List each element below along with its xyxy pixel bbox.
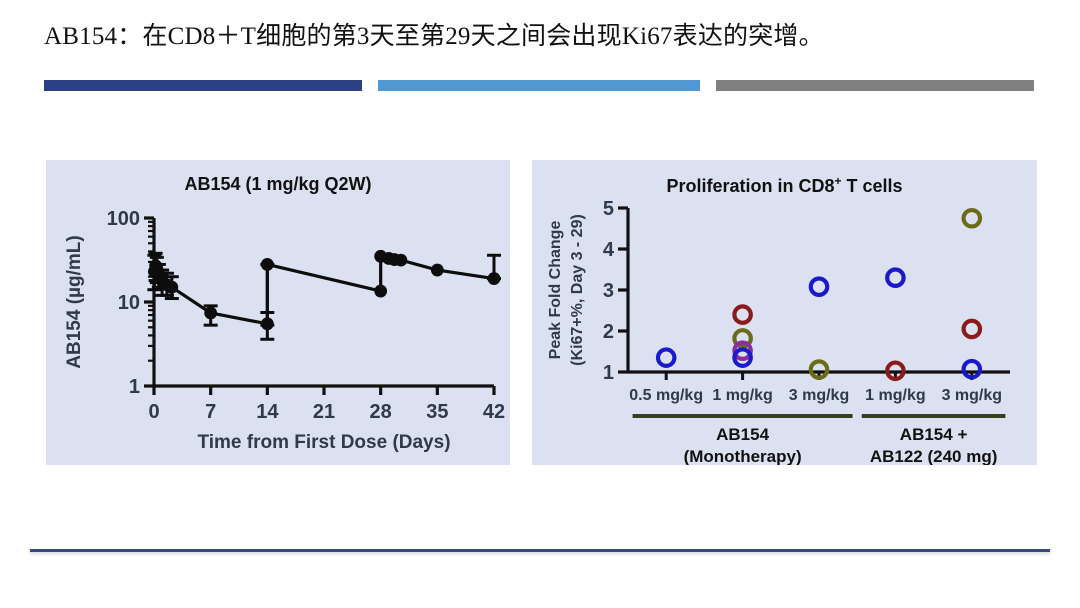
prolif-y-tick-label: 2 <box>603 321 614 343</box>
slide-root: AB154：在CD8＋T细胞的第3天至第29天之间会出现Ki67表达的突增。 A… <box>0 0 1080 608</box>
pk-x-tick-label: 7 <box>205 401 216 423</box>
pk-data-point <box>488 272 501 285</box>
prolif-data-point <box>887 270 903 286</box>
pk-y-axis-label: AB154 (µg/mL) <box>64 235 85 368</box>
pk-y-tick-label: 100 <box>107 208 140 230</box>
prolif-category-label: 1 mg/kg <box>712 387 772 404</box>
chart-panel-proliferation: Proliferation in CD8+ T cells 12345Peak … <box>532 160 1037 465</box>
pk-x-tick-label: 0 <box>148 401 159 423</box>
prolif-data-point <box>658 349 674 365</box>
prolif-category-label: 3 mg/kg <box>942 387 1002 404</box>
pk-data-point <box>374 285 387 298</box>
pk-data-point <box>261 317 274 330</box>
prolif-group-label-line1: AB154 <box>716 425 769 444</box>
prolif-group-label-line2: AB122 (240 mg) <box>870 447 998 465</box>
prolif-y-tick-label: 1 <box>603 362 614 384</box>
prolif-data-point <box>734 306 750 322</box>
pk-y-tick-label: 1 <box>129 376 140 398</box>
pk-plot-svg: 110100071421283542Time from First Dose (… <box>46 160 510 465</box>
pk-data-point <box>204 307 217 320</box>
prolif-data-point <box>964 321 980 337</box>
chart-panel-pk: AB154 (1 mg/kg Q2W) 110100071421283542Ti… <box>46 160 510 465</box>
pk-x-axis-label: Time from First Dose (Days) <box>197 432 450 453</box>
prolif-category-label: 0.5 mg/kg <box>629 387 703 404</box>
chart-title-superscript: + <box>834 174 841 188</box>
pk-data-point <box>165 281 178 294</box>
prolif-data-point <box>964 210 980 226</box>
accent-bar-light-blue <box>378 80 700 91</box>
prolif-y-axis-label-line1: Peak Fold Change <box>547 221 564 360</box>
pk-x-tick-label: 42 <box>483 401 505 423</box>
pk-data-point <box>261 258 274 271</box>
accent-bar-group <box>44 80 1034 91</box>
accent-bar-dark-blue <box>44 80 362 91</box>
prolif-group-label-line1: AB154 + <box>900 425 968 444</box>
page-title: AB154：在CD8＋T细胞的第3天至第29天之间会出现Ki67表达的突增。 <box>44 20 1034 54</box>
chart-title-tail: T cells <box>842 176 903 196</box>
pk-x-tick-label: 14 <box>256 401 279 423</box>
prolif-y-tick-label: 4 <box>603 239 615 261</box>
prolif-y-axis-label-line2: (Ki67+%, Day 3 - 29) <box>569 214 586 366</box>
accent-bar-gray <box>716 80 1034 91</box>
pk-x-tick-label: 21 <box>313 401 335 423</box>
chart-title-proliferation: Proliferation in CD8+ T cells <box>532 174 1037 197</box>
prolif-data-point <box>811 279 827 295</box>
pk-data-point <box>395 254 408 267</box>
chart-title-main: Proliferation in CD8 <box>666 176 834 196</box>
chart-title-pk: AB154 (1 mg/kg Q2W) <box>46 174 510 195</box>
prolif-category-label: 1 mg/kg <box>865 387 925 404</box>
pk-data-point <box>431 264 444 277</box>
pk-x-tick-label: 28 <box>370 401 392 423</box>
prolif-y-tick-label: 3 <box>603 280 614 302</box>
pk-x-tick-label: 35 <box>426 401 448 423</box>
prolif-group-label-line2: (Monotherapy) <box>684 447 802 465</box>
prolif-y-tick-label: 5 <box>603 198 614 220</box>
prolif-category-label: 3 mg/kg <box>789 387 849 404</box>
proliferation-plot-svg: 12345Peak Fold Change(Ki67+%, Day 3 - 29… <box>532 160 1037 465</box>
footer-divider <box>30 549 1050 552</box>
pk-y-tick-label: 10 <box>118 292 140 314</box>
